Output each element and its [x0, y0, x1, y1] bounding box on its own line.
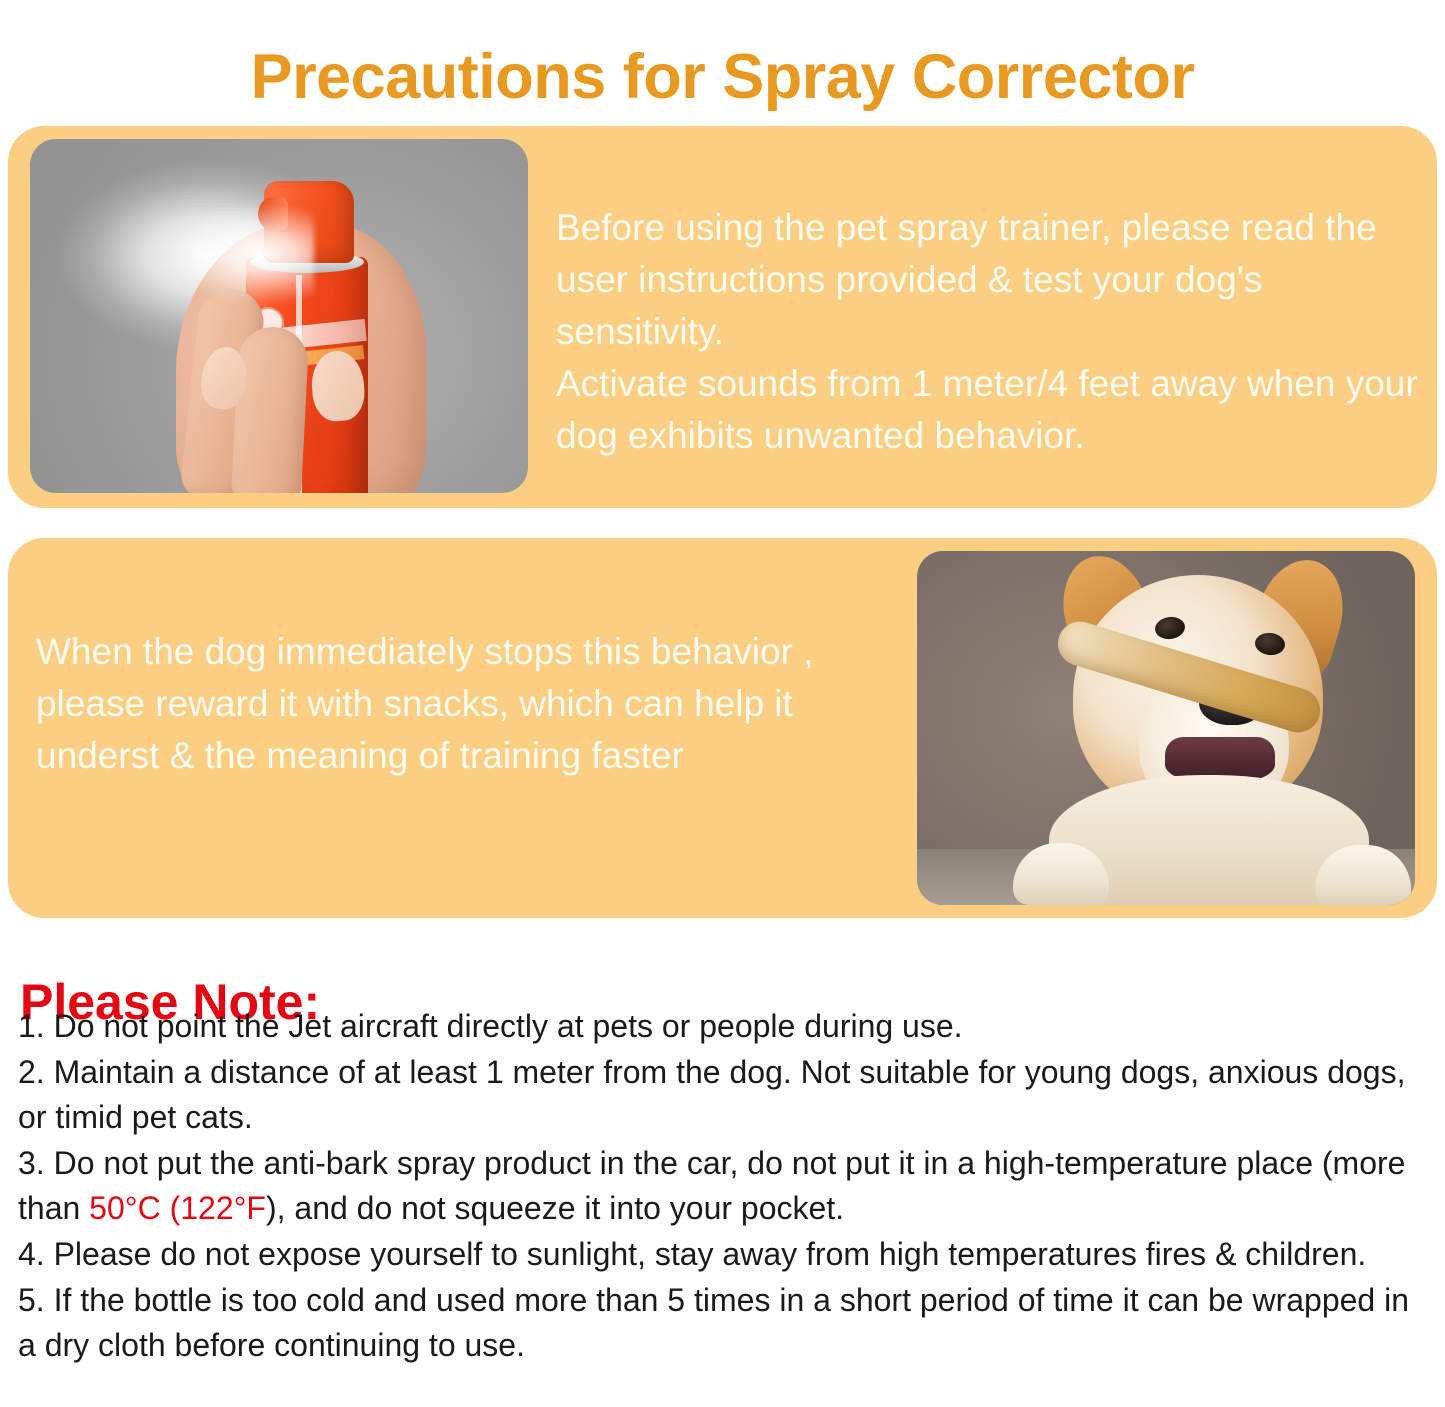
- precaution-panel-usage: Before using the pet spray trainer, plea…: [8, 126, 1437, 508]
- panel-one-line-1: Before using the pet spray trainer, plea…: [556, 202, 1422, 358]
- hand-finger: [230, 325, 309, 493]
- note-item: 5. If the bottle is too cold and used mo…: [18, 1278, 1428, 1368]
- note-list: 1. Do not point the Jet aircraft directl…: [18, 1004, 1428, 1369]
- note-item: 3. Do not put the anti-bark spray produc…: [18, 1141, 1428, 1231]
- hand-holding-spray-can-photo: [30, 139, 528, 493]
- temperature-warning-value: 50°C (122°F: [89, 1190, 266, 1226]
- note-item: 2. Maintain a distance of at least 1 met…: [18, 1050, 1428, 1140]
- note-item-suffix: ), and do not squeeze it into your pocke…: [266, 1190, 844, 1226]
- precaution-panel-reward: When the dog immediately stops this beha…: [8, 538, 1437, 918]
- panel-two-text: When the dog immediately stops this beha…: [36, 626, 880, 782]
- corgi-with-treat-photo: [917, 551, 1415, 905]
- panel-one-text: Before using the pet spray trainer, plea…: [556, 202, 1422, 462]
- page-title: Precautions for Spray Corrector: [0, 44, 1445, 110]
- panel-one-line-2: Activate sounds from 1 meter/4 feet away…: [556, 358, 1422, 462]
- panel-two-line-1: When the dog immediately stops this beha…: [36, 626, 880, 782]
- spray-mist: [84, 181, 314, 321]
- note-item: 4. Please do not expose yourself to sunl…: [18, 1232, 1428, 1277]
- note-item: 1. Do not point the Jet aircraft directl…: [18, 1004, 1428, 1049]
